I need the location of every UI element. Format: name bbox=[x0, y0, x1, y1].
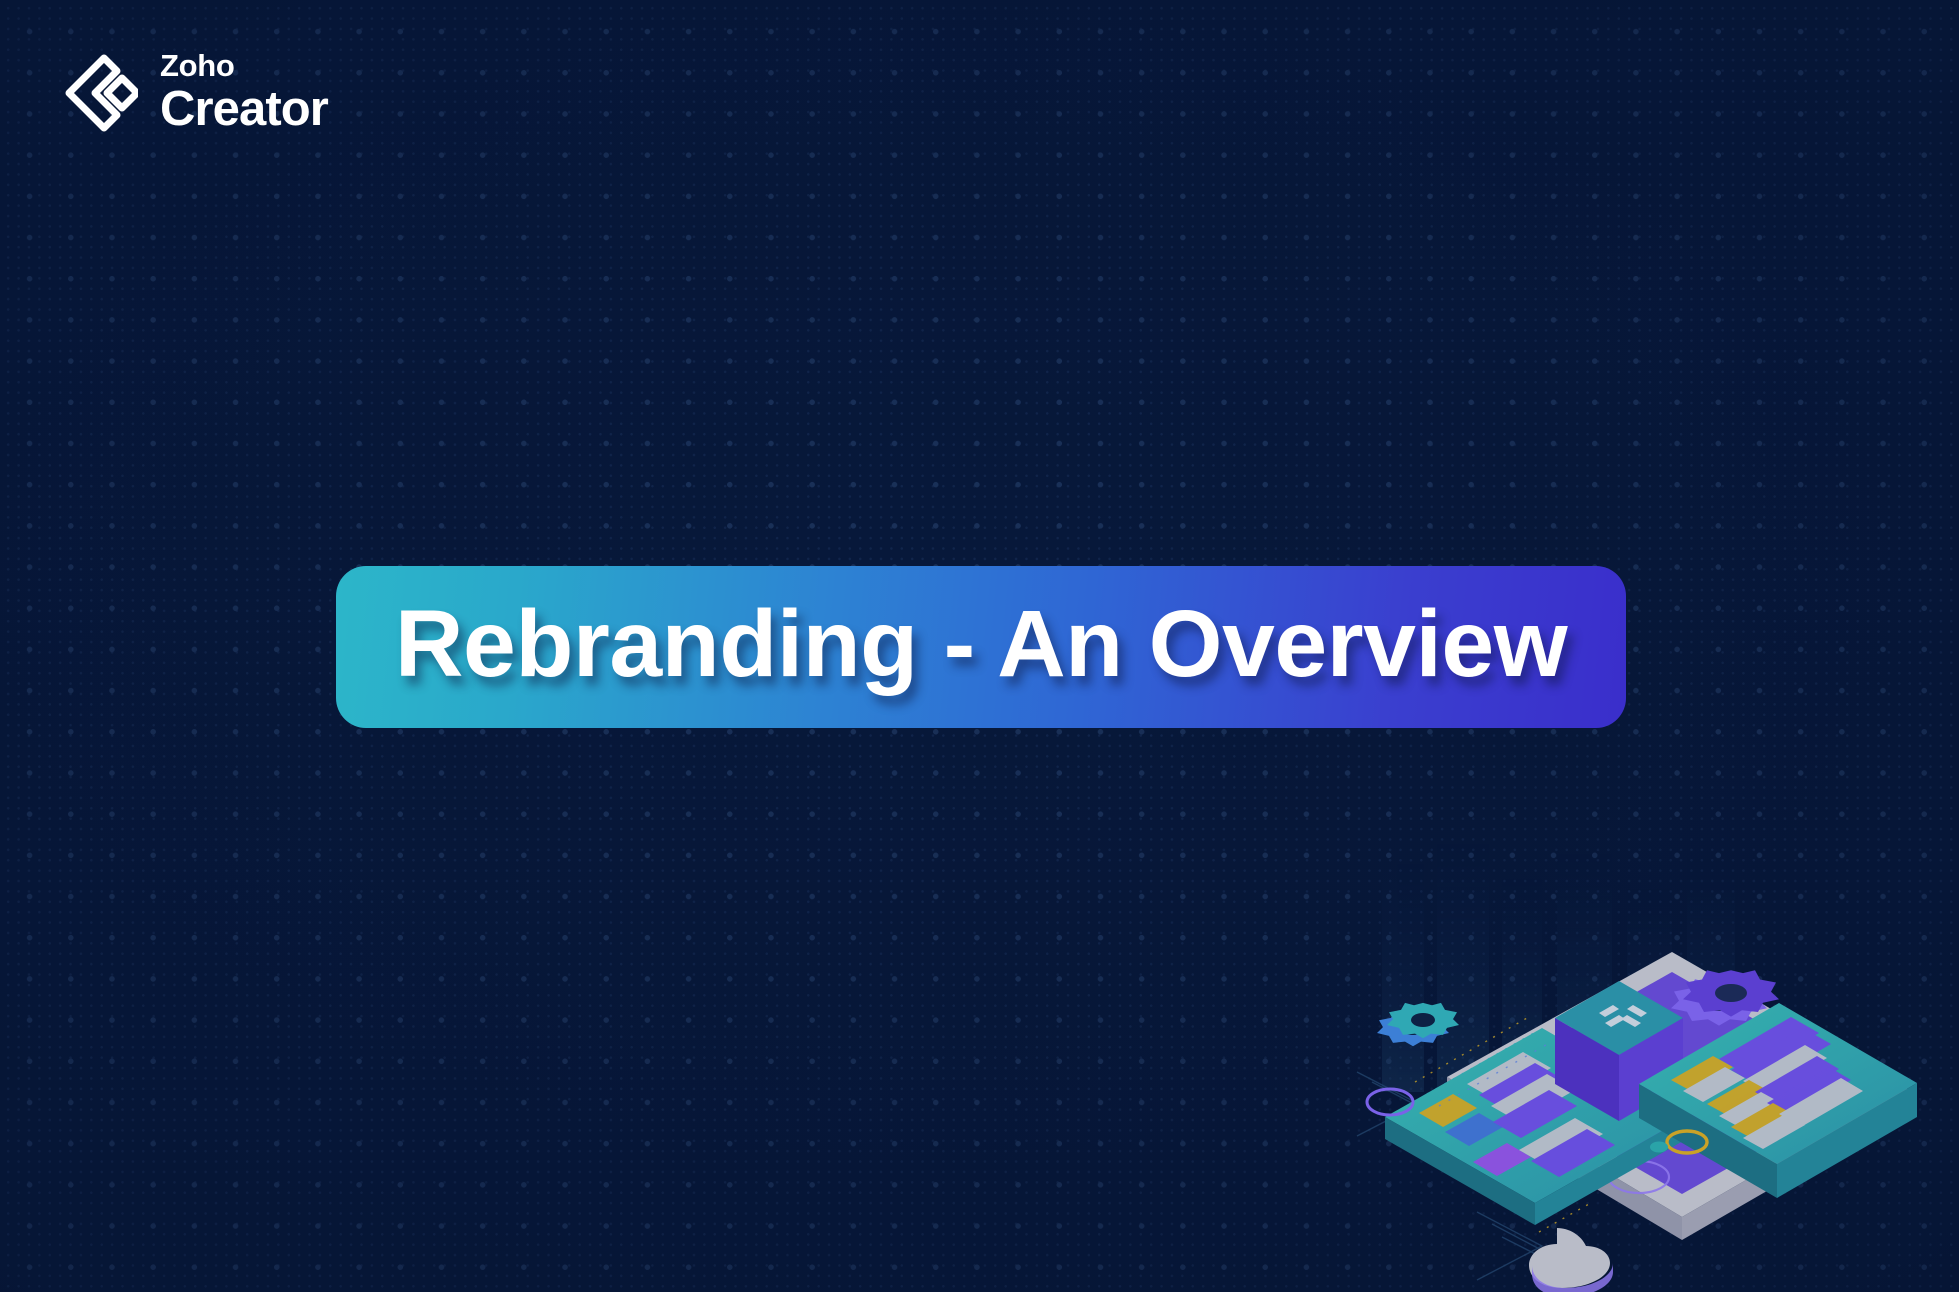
isometric-platform-illustration bbox=[1327, 832, 1959, 1292]
zoho-creator-logo[interactable]: Zoho Creator bbox=[60, 48, 328, 134]
code-block-icon-riser bbox=[1555, 981, 1683, 1121]
wireframe-accents bbox=[1357, 977, 1782, 1280]
page-title: Rebranding - An Overview bbox=[395, 590, 1567, 699]
document-card-teal-right bbox=[1639, 1003, 1917, 1198]
ring-accent-purple bbox=[1367, 1089, 1413, 1115]
light-beams bbox=[1382, 842, 1735, 1097]
logo-brand-text: Zoho bbox=[160, 50, 328, 81]
document-card-teal-left bbox=[1385, 1028, 1692, 1225]
logo-product-text: Creator bbox=[160, 85, 328, 134]
zoho-creator-logo-mark-icon bbox=[60, 53, 138, 133]
cloud-icon bbox=[1529, 1228, 1613, 1292]
logo-wordmark: Zoho Creator bbox=[160, 48, 328, 134]
title-banner: Rebranding - An Overview bbox=[336, 566, 1626, 728]
slide-canvas: Zoho Creator Rebranding - An Overview bbox=[0, 0, 1959, 1292]
gear-icon-left bbox=[1377, 1003, 1459, 1046]
gear-icon-right bbox=[1671, 970, 1779, 1025]
illustration-svg bbox=[1327, 832, 1959, 1292]
dot-accent-teal bbox=[1650, 1142, 1668, 1153]
ring-accent-yellow bbox=[1667, 1131, 1707, 1153]
tablet-device bbox=[1447, 952, 1907, 1240]
particle-streaks bbox=[1415, 1018, 1589, 1232]
